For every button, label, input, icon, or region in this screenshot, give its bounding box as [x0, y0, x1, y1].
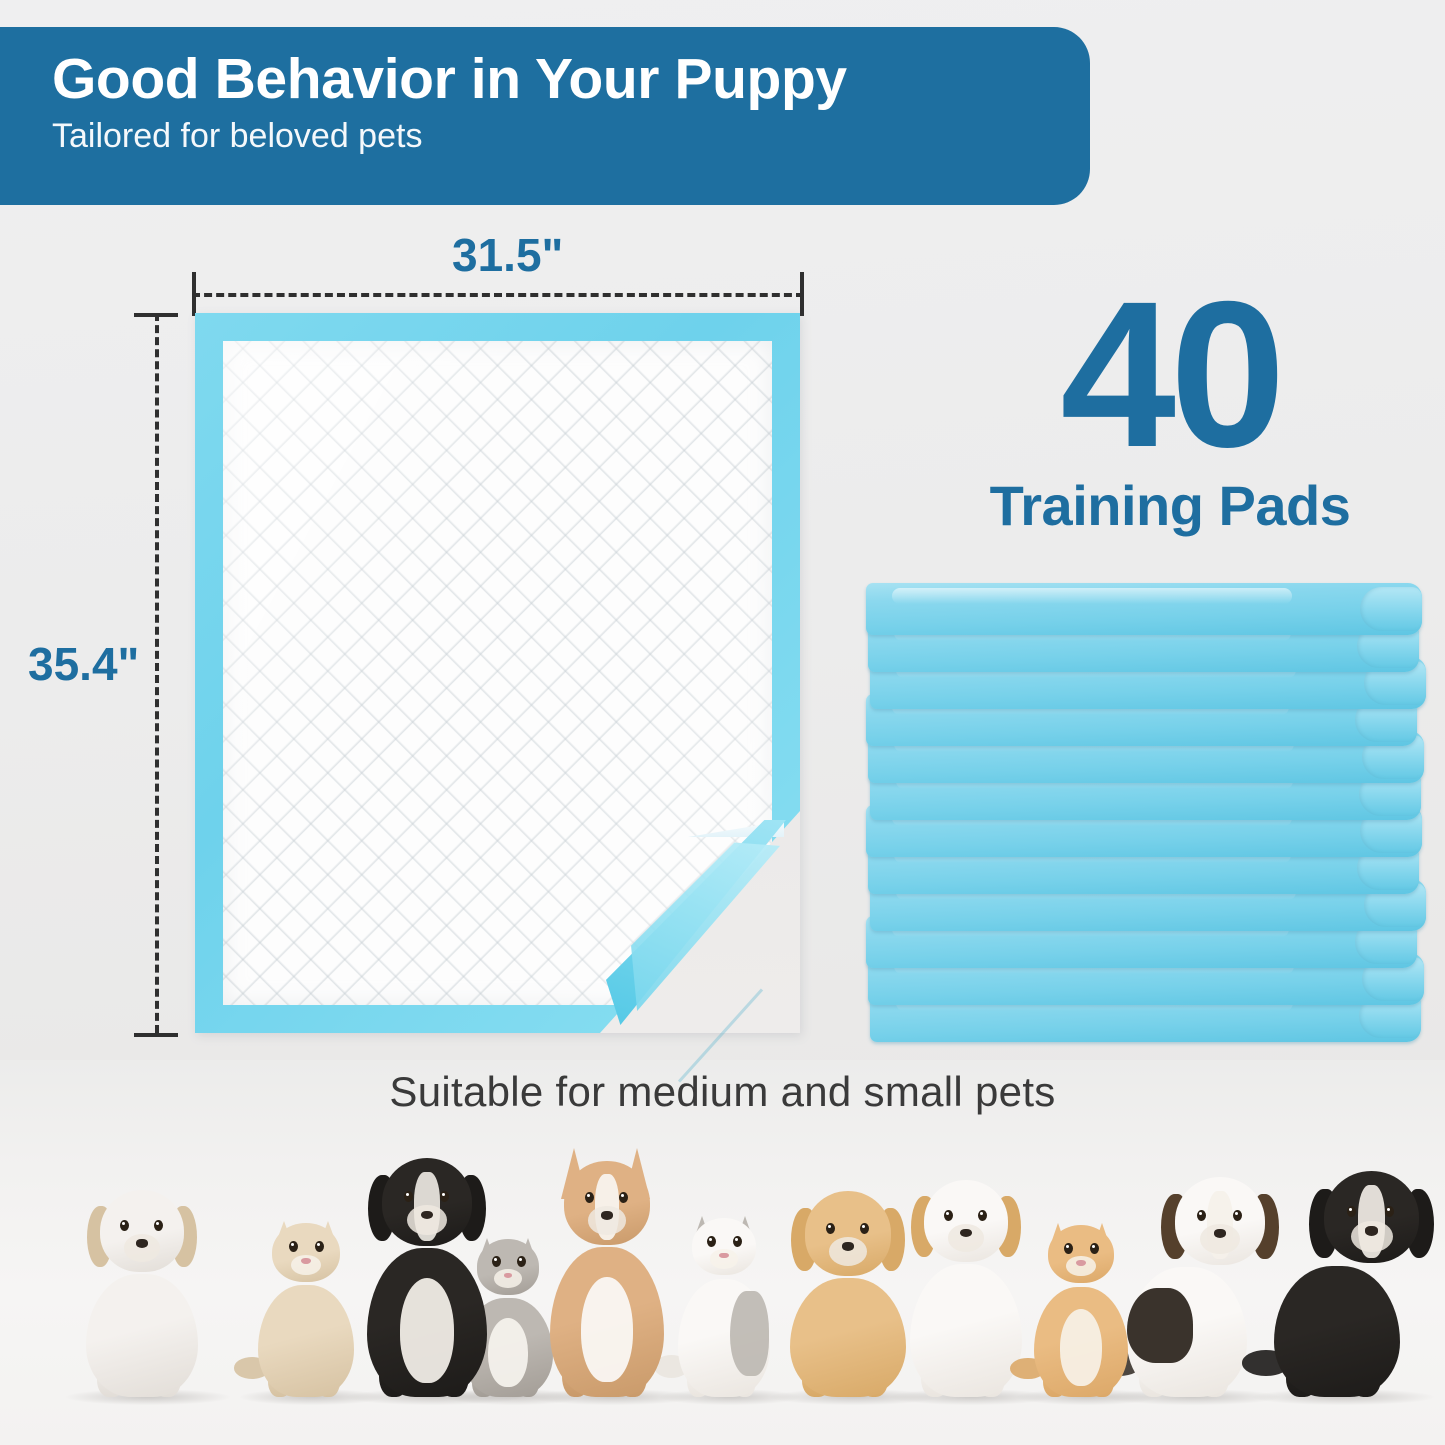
- pet-body: [1274, 1266, 1400, 1397]
- pet-body: [86, 1274, 198, 1397]
- pet-nose: [1076, 1260, 1085, 1266]
- pad-count-caption: Training Pads: [960, 477, 1380, 536]
- pet-chest: [1060, 1309, 1102, 1386]
- page-subtitle: Tailored for beloved pets: [52, 116, 1090, 157]
- pet-nose: [601, 1211, 613, 1219]
- pet-chest: [581, 1277, 632, 1382]
- pet-eye: [733, 1236, 742, 1247]
- pet-eye: [1197, 1210, 1206, 1221]
- training-pad-product-image: [195, 313, 800, 1033]
- width-dimension-label: 31.5": [452, 228, 563, 282]
- infographic-canvas: Good Behavior in Your Puppy Tailored for…: [0, 0, 1445, 1445]
- pet-orange-cat: [1022, 1219, 1140, 1397]
- pet-eye: [619, 1192, 628, 1203]
- pet-eye: [860, 1223, 869, 1234]
- height-dimension-label: 35.4": [28, 637, 139, 691]
- pet-white-puppy: [72, 1199, 212, 1397]
- height-tick-bottom: [134, 1033, 178, 1037]
- pet-muzzle: [407, 1205, 447, 1235]
- folded-pad-sheet: [866, 583, 1422, 635]
- page-title: Good Behavior in Your Puppy: [52, 49, 1090, 109]
- pet-eye: [1233, 1210, 1242, 1221]
- folded-pad-stack: [868, 583, 1424, 1035]
- height-dimension-line: [155, 313, 159, 1033]
- pet-eye: [404, 1191, 413, 1202]
- pet-eye: [585, 1192, 594, 1203]
- width-dimension-line: [192, 293, 804, 297]
- pet-body: [910, 1264, 1022, 1397]
- pets-lineup: [0, 1128, 1445, 1445]
- pet-tan-white-dog: [536, 1155, 678, 1397]
- pet-eye: [707, 1236, 716, 1247]
- pet-eye: [289, 1241, 298, 1252]
- pet-eye: [1064, 1243, 1073, 1254]
- pet-eye: [154, 1220, 163, 1231]
- pet-eye: [517, 1256, 526, 1267]
- pet-cream-tabby-cat: [246, 1217, 366, 1397]
- height-tick-top: [134, 313, 178, 317]
- pet-coat-marking: [730, 1291, 769, 1376]
- pet-body: [258, 1285, 354, 1397]
- pet-nose: [1365, 1226, 1378, 1235]
- header-banner: Good Behavior in Your Puppy Tailored for…: [0, 27, 1090, 205]
- pet-black-tan-rottweiler: [1258, 1185, 1416, 1397]
- pet-nose: [136, 1239, 148, 1247]
- pet-nose: [719, 1253, 728, 1259]
- pet-eye: [826, 1223, 835, 1234]
- pet-eye: [1385, 1206, 1394, 1217]
- pet-chest: [400, 1278, 454, 1382]
- width-tick-left: [192, 272, 196, 316]
- pet-nose: [842, 1242, 854, 1250]
- pet-white-gray-cat: [666, 1207, 782, 1397]
- bottom-caption: Suitable for medium and small pets: [0, 1068, 1445, 1116]
- width-tick-right: [800, 272, 804, 316]
- pet-eye: [978, 1210, 987, 1221]
- pet-nose: [301, 1258, 310, 1264]
- pad-count-number: 40: [960, 280, 1380, 471]
- pad-count-block: 40 Training Pads: [960, 280, 1380, 536]
- pet-golden-retriever: [776, 1205, 920, 1397]
- pet-black-tan-hound: [352, 1157, 502, 1397]
- pet-eye: [440, 1191, 449, 1202]
- pet-body: [790, 1278, 905, 1397]
